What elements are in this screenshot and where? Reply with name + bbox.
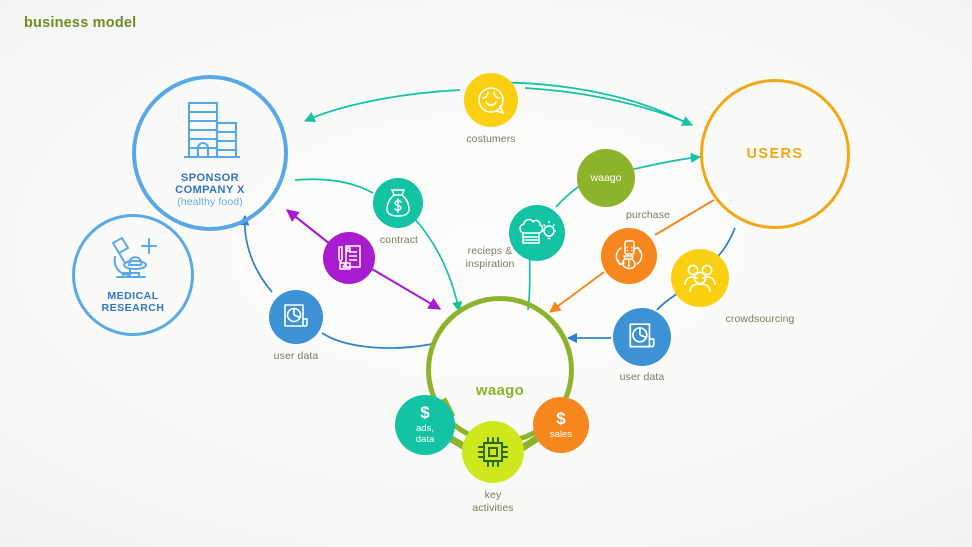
- document-pen-icon: [334, 243, 364, 273]
- exchange-phone-money-icon: [611, 238, 647, 274]
- node-contract[interactable]: [373, 178, 423, 228]
- sales-symbol: $: [556, 410, 565, 427]
- users-label: USERS: [747, 146, 804, 162]
- flow-crowdsourcing-to-user-data-right: [657, 293, 678, 310]
- flow-agreement-to-sponsor: [287, 210, 330, 244]
- money-bag-icon: [384, 188, 412, 218]
- document-pie-chart-icon: [281, 302, 311, 332]
- document-pie-chart-icon: [626, 321, 658, 353]
- flow-costumers-to-users-tip: [525, 88, 692, 125]
- sponsor-sublabel: (healthy food): [177, 197, 243, 209]
- node-users[interactable]: USERS: [700, 79, 850, 229]
- flow-costumers-to-sponsor: [305, 90, 460, 121]
- node-crowdsourcing[interactable]: [671, 249, 729, 307]
- crowdsourcing-caption: crowdsourcing: [726, 313, 795, 326]
- node-user-data-left[interactable]: [269, 290, 323, 344]
- ads-data-label: ads, data: [416, 424, 435, 446]
- node-key-activities[interactable]: [462, 421, 524, 483]
- flow-agreement-to-waago: [372, 269, 440, 309]
- node-ads-data[interactable]: $ ads, data: [395, 395, 455, 455]
- waago-small-label: waago: [591, 172, 622, 184]
- flow-sponsor-to-contract: [295, 179, 373, 193]
- user-data-left-caption: user data: [274, 350, 319, 363]
- sponsor-label: SPONSOR COMPANY X: [175, 172, 245, 197]
- flow-purchase-to-waago: [550, 272, 604, 312]
- waago-center-label: waago: [476, 383, 524, 400]
- costumers-caption: costumers: [466, 133, 515, 146]
- node-recipes-inspiration[interactable]: [509, 205, 565, 261]
- node-sales[interactable]: $ sales: [533, 397, 589, 453]
- microscope-icon: [103, 235, 163, 283]
- node-medical-research[interactable]: MEDICAL RESEARCH: [72, 214, 194, 336]
- node-user-data-right[interactable]: [613, 308, 671, 366]
- business-model-diagram: business model: [0, 0, 972, 547]
- key-activities-caption: key activities: [472, 489, 513, 515]
- purchase-caption: purchase: [626, 209, 670, 222]
- recipes-caption: recieps & inspiration: [466, 245, 515, 271]
- smiley-speech-bubble-icon: [475, 84, 507, 116]
- medical-research-label: MEDICAL RESEARCH: [102, 291, 165, 315]
- microchip-icon: [476, 435, 510, 469]
- office-building-icon: [176, 97, 244, 163]
- contract-caption: contract: [380, 234, 418, 247]
- node-waago-small[interactable]: waago: [577, 149, 635, 207]
- group-people-icon: [682, 262, 718, 294]
- flow-waago-to-user-data-left: [322, 333, 432, 348]
- user-data-right-caption: user data: [620, 371, 665, 384]
- flow-user-data-left-to-sponsor: [245, 216, 272, 292]
- node-purchase[interactable]: [601, 228, 657, 284]
- ads-data-symbol: $: [420, 404, 429, 421]
- node-sponsor-company[interactable]: SPONSOR COMPANY X (healthy food): [132, 75, 288, 231]
- node-agreement[interactable]: [323, 232, 375, 284]
- sales-label: sales: [550, 430, 572, 441]
- flow-waago-small-to-users: [630, 157, 700, 170]
- node-costumers[interactable]: [464, 73, 518, 127]
- chef-hat-bulb-icon: [518, 217, 556, 249]
